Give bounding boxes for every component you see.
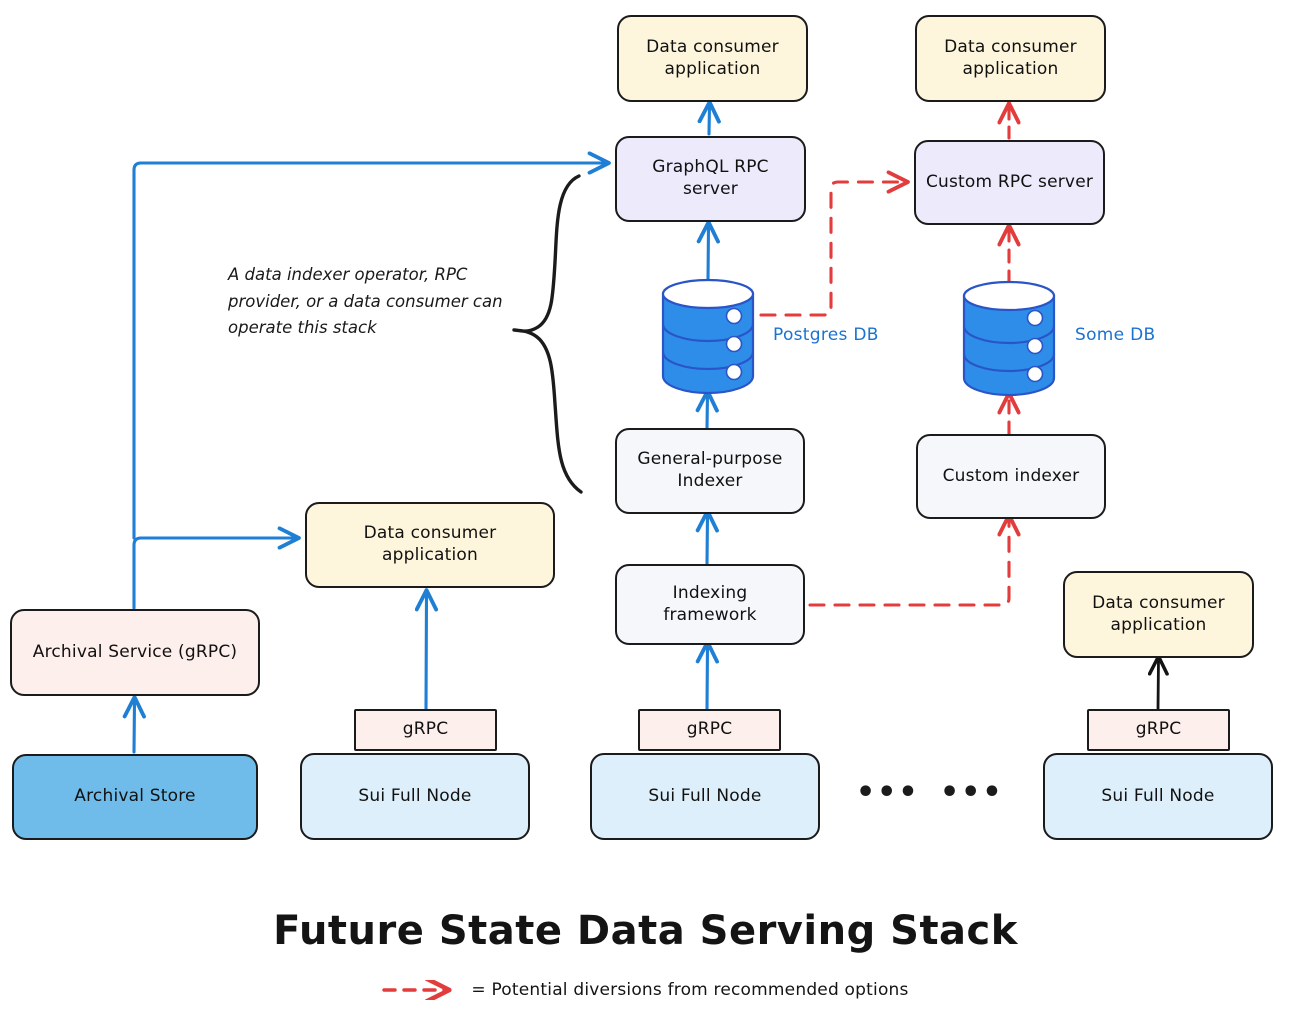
- wire-node3-to-consumer: [1158, 659, 1159, 709]
- wire-postgresdb-to-graphql: [708, 225, 709, 281]
- node-grpc-3[interactable]: gRPC: [1087, 709, 1230, 751]
- wire-framework-to-indexer: [707, 514, 708, 564]
- node-archival-store[interactable]: Archival Store: [12, 754, 258, 840]
- wire-archival-to-consumer: [134, 538, 296, 608]
- node-data-consumer-application-top-left[interactable]: Data consumer application: [617, 15, 808, 102]
- wire-graphql-to-consumer: [709, 105, 710, 134]
- node-grpc-2[interactable]: gRPC: [638, 709, 781, 751]
- diagram-title: Future State Data Serving Stack: [0, 908, 1291, 954]
- wire-archival-to-graphql: [134, 163, 606, 538]
- node-custom-rpc-server[interactable]: Custom RPC server: [914, 140, 1105, 225]
- node-label: Data consumer application: [307, 523, 553, 567]
- database-postgres[interactable]: [658, 276, 758, 396]
- wire-diversion-framework-to-customindexer: [810, 518, 1009, 605]
- node-label: Custom RPC server: [918, 172, 1101, 194]
- node-indexing-framework[interactable]: Indexing framework: [615, 564, 805, 645]
- diagram-canvas: Data consumer application Data consumer …: [0, 0, 1291, 1018]
- label-some-db: Some DB: [1075, 325, 1155, 345]
- node-label: Sui Full Node: [640, 786, 769, 808]
- node-label: Data consumer application: [917, 37, 1104, 81]
- node-graphql-rpc-server[interactable]: GraphQL RPC server: [615, 136, 806, 222]
- node-label: Data consumer application: [1065, 593, 1252, 637]
- node-label: Data consumer application: [619, 37, 806, 81]
- stack-grouping-brace: [514, 176, 581, 492]
- node-label: Indexing framework: [617, 583, 803, 627]
- node-custom-indexer[interactable]: Custom indexer: [916, 434, 1106, 519]
- wire-indexer-to-postgresdb: [707, 394, 708, 428]
- node-label: Archival Service (gRPC): [25, 642, 246, 664]
- node-label: Sui Full Node: [350, 786, 479, 808]
- database-some-db[interactable]: [959, 278, 1059, 398]
- node-label: Sui Full Node: [1093, 786, 1222, 808]
- legend-label: = Potential diversions from recommended …: [471, 980, 908, 1000]
- node-label: GraphQL RPC server: [617, 157, 804, 201]
- ellipsis-separator-2: •••: [940, 778, 1004, 808]
- node-label: gRPC: [395, 719, 457, 741]
- node-label: General-purpose Indexer: [617, 449, 803, 493]
- node-general-purpose-indexer[interactable]: General-purpose Indexer: [615, 428, 805, 514]
- node-label: gRPC: [1128, 719, 1190, 741]
- node-label: Archival Store: [66, 786, 203, 808]
- node-data-consumer-application-bottom-right[interactable]: Data consumer application: [1063, 571, 1254, 658]
- node-sui-full-node-3[interactable]: Sui Full Node: [1043, 753, 1273, 840]
- node-label: Custom indexer: [935, 466, 1088, 488]
- node-grpc-1[interactable]: gRPC: [354, 709, 497, 751]
- node-label: gRPC: [679, 719, 741, 741]
- node-data-consumer-application-mid-left[interactable]: Data consumer application: [305, 502, 555, 588]
- dashed-red-arrow-icon: [382, 980, 462, 1000]
- label-postgres-db: Postgres DB: [773, 325, 879, 345]
- ellipsis-separator-1: •••: [856, 778, 920, 808]
- node-data-consumer-application-top-right[interactable]: Data consumer application: [915, 15, 1106, 102]
- wire-node1-to-consumer: [426, 593, 427, 709]
- node-archival-service[interactable]: Archival Service (gRPC): [10, 609, 260, 696]
- node-sui-full-node-2[interactable]: Sui Full Node: [590, 753, 820, 840]
- legend: = Potential diversions from recommended …: [0, 980, 1291, 1000]
- annotation-text: A data indexer operator, RPC provider, o…: [228, 262, 503, 342]
- wire-store-to-archival: [134, 700, 135, 752]
- node-sui-full-node-1[interactable]: Sui Full Node: [300, 753, 530, 840]
- wire-node2-to-framework: [707, 645, 708, 709]
